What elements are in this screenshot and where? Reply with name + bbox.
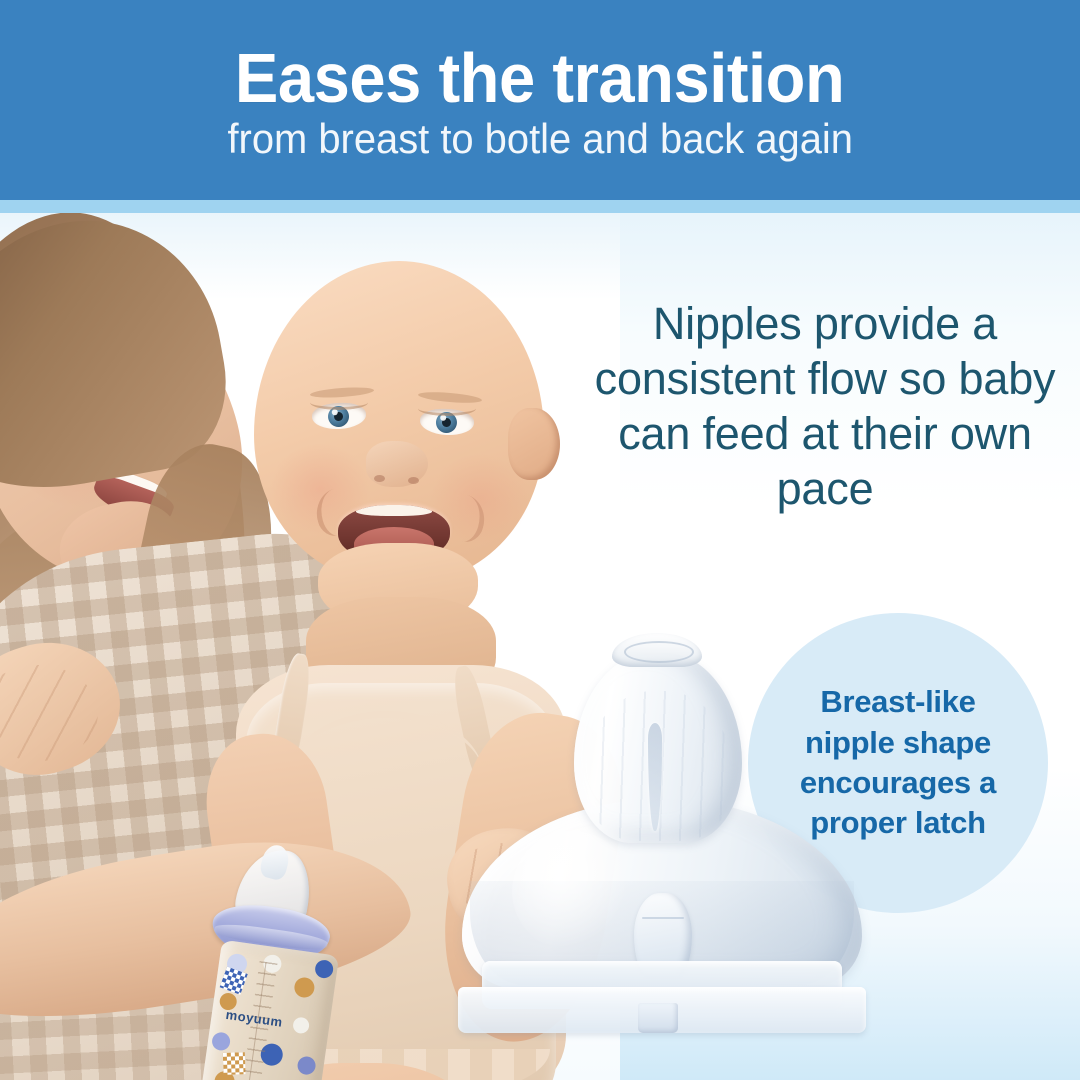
content-stage: moyuum Breast-like nipple shape encourag… xyxy=(0,213,1080,1080)
nipple-flange-notch xyxy=(638,1003,678,1033)
silicone-nipple-product-photo xyxy=(452,631,872,1051)
body-copy-text: Nipples provide a consistent flow so bab… xyxy=(592,297,1058,517)
bottle-pattern-dot xyxy=(314,959,334,979)
bottle-pattern-dot xyxy=(296,1055,316,1075)
banner-accent-stripe xyxy=(0,200,1080,213)
header-banner: Eases the transition from breast to botl… xyxy=(0,0,1080,200)
baby-teeth xyxy=(356,505,432,516)
baby-eyelid-left xyxy=(310,395,368,410)
baby-eyelid-right xyxy=(418,401,476,416)
bottle-pattern-dot xyxy=(293,976,316,999)
bottle-brand-logo: moyuum xyxy=(225,1007,318,1035)
bottle-body: moyuum xyxy=(199,940,339,1080)
nipple-highlight xyxy=(512,831,632,951)
banner-title: Eases the transition xyxy=(235,43,844,114)
baby-nostril-left xyxy=(374,475,385,482)
banner-subtitle: from breast to botle and back again xyxy=(227,117,852,161)
bottle-pattern-dot xyxy=(211,1031,231,1051)
product-infographic: Eases the transition from breast to botl… xyxy=(0,0,1080,1080)
bottle-pattern-checker xyxy=(223,1052,246,1075)
nipple-vent-line xyxy=(642,917,684,919)
baby-nostril-right xyxy=(408,477,419,484)
nipple-tip-ring xyxy=(624,641,694,663)
baby-bottle: moyuum xyxy=(196,849,336,1080)
